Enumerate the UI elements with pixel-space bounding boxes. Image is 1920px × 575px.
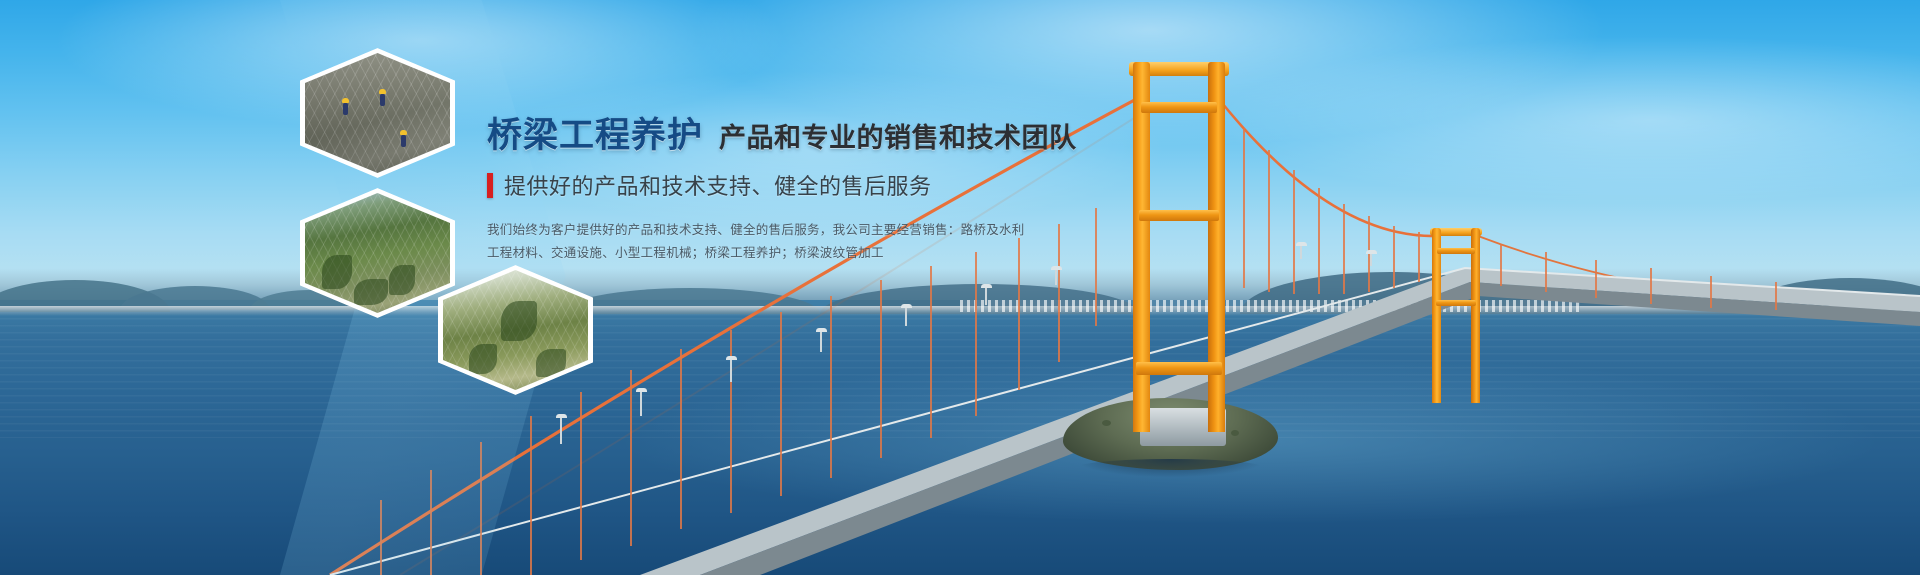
banner-text-block: 桥梁工程养护产品和专业的销售和技术团队 提供好的产品和技术支持、健全的售后服务 … bbox=[487, 118, 1107, 265]
headline-tagline: 产品和专业的销售和技术团队 bbox=[719, 123, 1077, 153]
bridge-far-pylon bbox=[1432, 228, 1480, 403]
red-accent-bar bbox=[487, 173, 493, 198]
headline-title: 桥梁工程养护 bbox=[487, 116, 703, 155]
hero-banner: 桥梁工程养护产品和专业的销售和技术团队 提供好的产品和技术支持、健全的售后服务 … bbox=[0, 0, 1920, 575]
subheading: 提供好的产品和技术支持、健全的售后服务 bbox=[487, 169, 1107, 201]
description-line-2: 工程材料、交通设施、小型工程机械；桥梁工程养护；桥梁波纹管加工 bbox=[487, 242, 907, 265]
bridge-main-pylon bbox=[1133, 62, 1225, 432]
banner-description: 我们始终为客户提供好的产品和技术支持、健全的售后服务，我公司主要经营销售：路桥及… bbox=[487, 219, 907, 265]
subheading-text: 提供好的产品和技术支持、健全的售后服务 bbox=[504, 169, 932, 201]
suspension-bridge bbox=[0, 0, 1920, 575]
description-line-1: 我们始终为客户提供好的产品和技术支持、健全的售后服务，我公司主要经营销售：路桥及… bbox=[487, 219, 907, 242]
headline: 桥梁工程养护产品和专业的销售和技术团队 bbox=[487, 118, 1107, 153]
